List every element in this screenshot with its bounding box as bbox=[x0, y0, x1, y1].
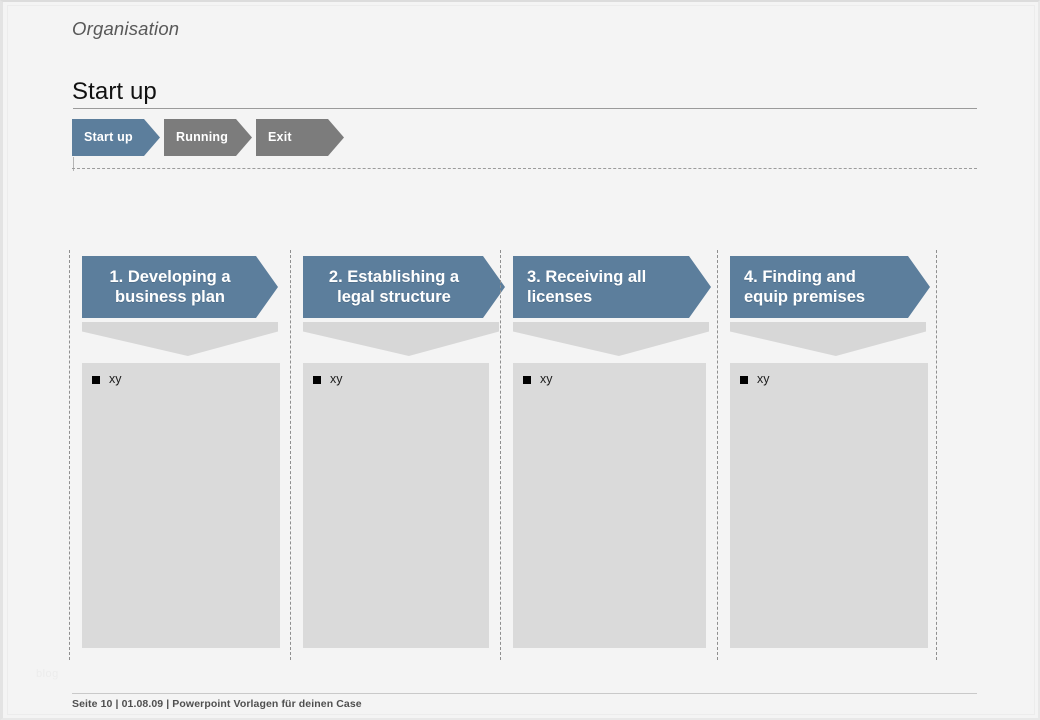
step-columns: 1. Developing a business plan xy 2. Esta… bbox=[69, 250, 937, 660]
step-header-4[interactable]: 4. Finding and equip premises bbox=[730, 256, 930, 318]
square-bullet-icon bbox=[740, 376, 748, 384]
step-content-3: xy bbox=[513, 363, 706, 648]
step-column-3: 3. Receiving all licenses xy bbox=[500, 250, 717, 660]
bullet-text: xy bbox=[330, 372, 343, 386]
title-divider bbox=[73, 108, 977, 109]
step-title-line2: legal structure bbox=[317, 287, 471, 307]
step-content-1: xy bbox=[82, 363, 280, 648]
list-item: xy bbox=[313, 372, 479, 386]
step-title-line1: 2. Establishing a bbox=[317, 267, 471, 287]
step-title-line1: 1. Developing a bbox=[96, 267, 244, 287]
step-down-arrow-2 bbox=[303, 322, 499, 356]
page-title: Start up bbox=[72, 78, 157, 106]
step-header-3[interactable]: 3. Receiving all licenses bbox=[513, 256, 711, 318]
list-item: xy bbox=[740, 372, 918, 386]
footer-divider bbox=[72, 693, 977, 694]
slide-kicker: Organisation bbox=[72, 18, 179, 40]
step-down-arrow-1 bbox=[82, 322, 278, 356]
step-title-line1: 3. Receiving all bbox=[527, 267, 681, 287]
step-header-2[interactable]: 2. Establishing a legal structure bbox=[303, 256, 505, 318]
step-title-line2: business plan bbox=[96, 287, 244, 307]
phase-tab-running[interactable]: Running bbox=[164, 119, 252, 156]
bullet-text: xy bbox=[109, 372, 122, 386]
horizontal-guide-line bbox=[72, 168, 977, 169]
step-down-arrow-3 bbox=[513, 322, 709, 356]
step-column-2: 2. Establishing a legal structure xy bbox=[290, 250, 500, 660]
footer-text: Seite 10 | 01.08.09 | Powerpoint Vorlage… bbox=[72, 698, 362, 710]
step-column-4: 4. Finding and equip premises xy bbox=[717, 250, 937, 660]
step-title-line2: equip premises bbox=[744, 287, 900, 307]
square-bullet-icon bbox=[92, 376, 100, 384]
step-content-2: xy bbox=[303, 363, 489, 648]
watermark: blog bbox=[36, 668, 59, 680]
list-item: xy bbox=[92, 372, 270, 386]
slide-canvas: Organisation Start up Start up Running E… bbox=[0, 0, 1040, 720]
step-column-1: 1. Developing a business plan xy bbox=[69, 250, 290, 660]
step-title-line1: 4. Finding and bbox=[744, 267, 900, 287]
step-down-arrow-4 bbox=[730, 322, 926, 356]
phase-tab-exit[interactable]: Exit bbox=[256, 119, 344, 156]
square-bullet-icon bbox=[523, 376, 531, 384]
phase-tab-start-up[interactable]: Start up bbox=[72, 119, 160, 156]
bullet-text: xy bbox=[540, 372, 553, 386]
bullet-text: xy bbox=[757, 372, 770, 386]
square-bullet-icon bbox=[313, 376, 321, 384]
step-title-line2: licenses bbox=[527, 287, 681, 307]
list-item: xy bbox=[523, 372, 696, 386]
step-content-4: xy bbox=[730, 363, 928, 648]
step-header-1[interactable]: 1. Developing a business plan bbox=[82, 256, 278, 318]
